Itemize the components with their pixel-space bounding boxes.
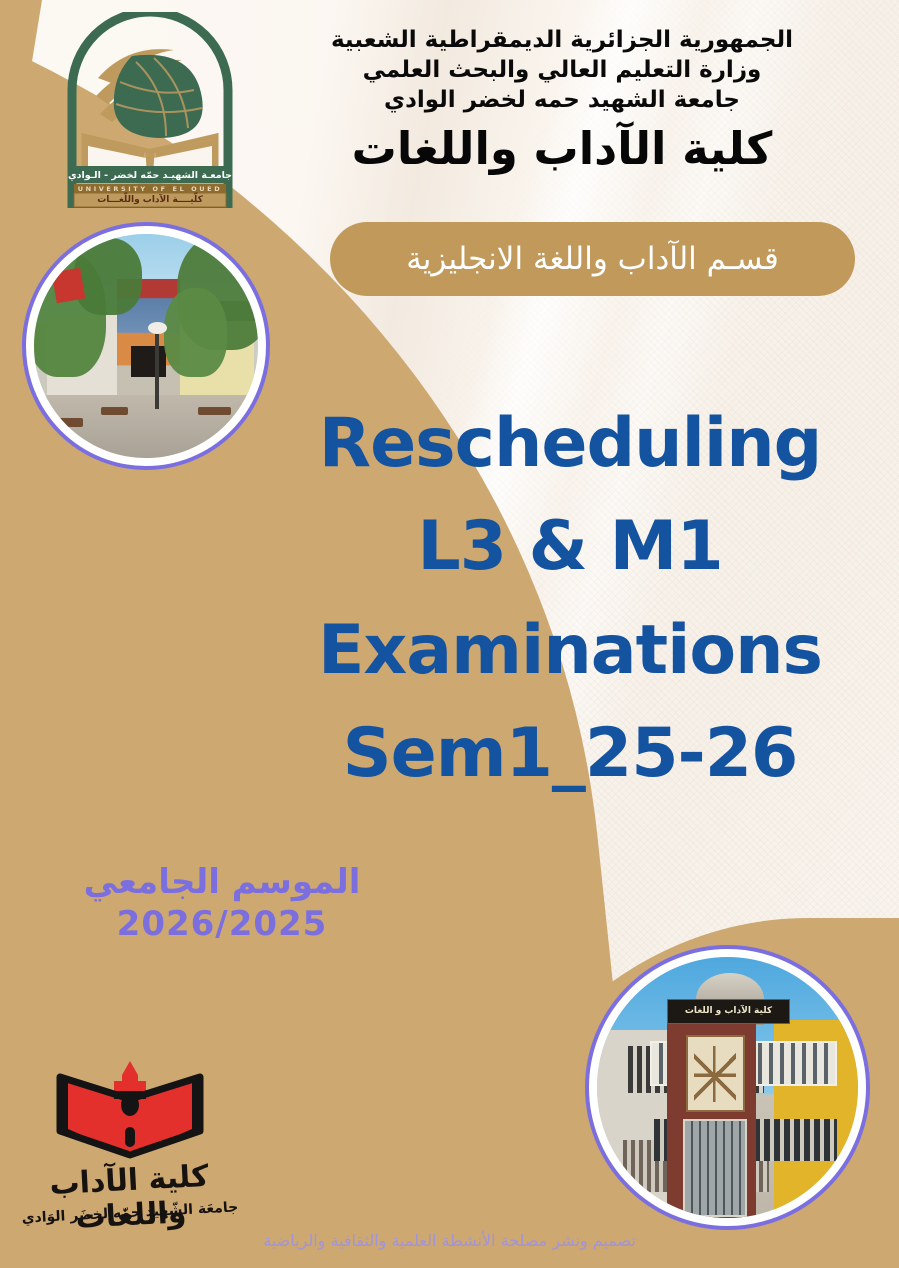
- header-faculty-title: كلية الآداب واللغات: [262, 122, 862, 175]
- faculty-logo-caption: كلية الآداب واللغات: [8, 1157, 251, 1239]
- main-title-line-1: Rescheduling: [270, 392, 870, 495]
- main-title-line-3: Examinations: [270, 599, 870, 702]
- campus-photo-circle: [22, 222, 270, 470]
- academic-year-block: الموسم الجامعي 2026/2025: [52, 862, 392, 946]
- footer-credit: تصميم ونشر مصلحة الأنشطة العلمية والثقاف…: [0, 1231, 899, 1250]
- academic-year-value: 2026/2025: [52, 902, 392, 946]
- university-logo-faculty-band-wrap: كلّيــــة الآداب واللّغـــات: [74, 193, 226, 207]
- university-logo-name-ar-wrap: جامعـة الشهيـد حمّه لخضر - الـوادي: [74, 167, 226, 183]
- faculty-building-photo-image: كلية الآداب و اللغات: [597, 957, 858, 1218]
- header-text-block: الجمهورية الجزائرية الديمقراطية الشعبية …: [262, 26, 862, 175]
- faculty-logo-icon: [10, 1055, 250, 1175]
- university-logo: جامعـة الشهيـد حمّه لخضر - الـوادي UNIVE…: [62, 12, 238, 208]
- academic-year-label: الموسم الجامعي: [52, 862, 392, 902]
- faculty-building-sign-text: كلية الآداب و اللغات: [685, 1006, 772, 1016]
- campus-photo-inner: [34, 234, 258, 458]
- university-logo-name-en: UNIVERSITY OF EL OUED: [78, 185, 222, 193]
- university-logo-name-ar: جامعـة الشهيـد حمّه لخضر - الـوادي: [68, 170, 232, 181]
- faculty-building-photo-inner: كلية الآداب و اللغات: [597, 957, 858, 1218]
- department-banner: قسـم الآداب واللغة الانجليزية: [330, 222, 855, 296]
- main-title: Rescheduling L3 & M1 Examinations Sem1_2…: [270, 392, 870, 805]
- header-line-country: الجمهورية الجزائرية الديمقراطية الشعبية: [262, 26, 862, 56]
- faculty-building-sign: كلية الآداب و اللغات: [667, 999, 789, 1024]
- main-title-line-2: L3 & M1: [270, 495, 870, 598]
- main-title-line-4: Sem1_25-26: [270, 702, 870, 805]
- university-logo-faculty-band: كلّيــــة الآداب واللّغـــات: [97, 195, 203, 205]
- header-line-university: جامعة الشهيد حمه لخضر الوادي: [262, 86, 862, 116]
- faculty-building-photo-circle: كلية الآداب و اللغات: [585, 945, 870, 1230]
- faculty-logo: كلية الآداب واللغات جامعَة الشّهيد حمّه …: [10, 1055, 250, 1245]
- poster-root: جامعـة الشهيـد حمّه لخضر - الـوادي UNIVE…: [0, 0, 899, 1268]
- campus-photo-image: [34, 234, 258, 458]
- department-banner-label: قسـم الآداب واللغة الانجليزية: [406, 241, 779, 277]
- header-line-ministry: وزارة التعليم العالي والبحث العلمي: [262, 56, 862, 86]
